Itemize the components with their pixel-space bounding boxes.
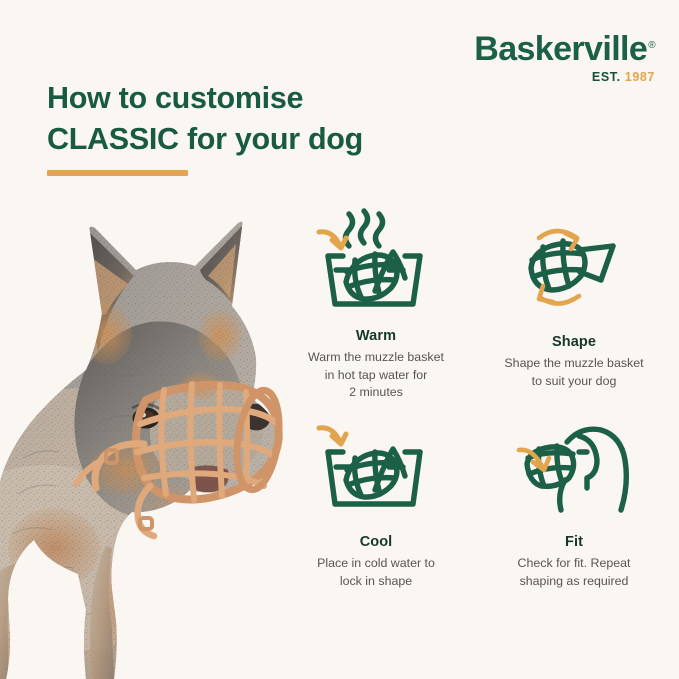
page-title-line-1: How to customise xyxy=(47,81,303,115)
step-title: Cool xyxy=(282,534,470,550)
step-title: Fit xyxy=(480,534,668,550)
infographic-page: Baskerville® EST. 1987 How to customiseC… xyxy=(0,0,679,679)
step-description: Shape the muzzle basket to suit your dog xyxy=(480,355,668,390)
brand-name-text: Baskerville xyxy=(474,30,647,68)
step-title: Warm xyxy=(282,328,470,344)
step-desc-line: in hot tap water for xyxy=(325,368,428,382)
steps-grid: Warm Warm the muzzle basket in hot tap w… xyxy=(282,208,679,608)
est-label: EST. xyxy=(592,70,621,84)
step-description: Warm the muzzle basket in hot tap water … xyxy=(282,349,470,402)
step-title: Shape xyxy=(480,334,668,350)
step-warm: Warm Warm the muzzle basket in hot tap w… xyxy=(282,208,470,402)
step-desc-line: shaping as required xyxy=(520,574,629,588)
registered-trademark-icon: ® xyxy=(648,40,655,51)
brand-established: EST. 1987 xyxy=(470,70,655,84)
step-description: Check for fit. Repeat shaping as require… xyxy=(480,555,668,590)
basin-with-muzzle-icon xyxy=(282,414,470,522)
title-divider xyxy=(47,170,188,176)
brand-name: Baskerville® xyxy=(474,32,655,66)
step-desc-line: to suit your dog xyxy=(532,374,617,388)
step-desc-line: Check for fit. Repeat xyxy=(518,556,631,570)
step-fit: Fit Check for fit. Repeat shaping as req… xyxy=(480,414,668,590)
step-description: Place in cold water to lock in shape xyxy=(282,555,470,590)
step-desc-line: lock in shape xyxy=(340,574,412,588)
step-desc-line: Place in cold water to xyxy=(317,556,435,570)
dog-head-with-muzzle-icon xyxy=(480,414,668,522)
step-desc-line: 2 minutes xyxy=(349,385,403,399)
est-year: 1987 xyxy=(625,70,655,84)
muzzle-shaping-arrows-icon xyxy=(480,214,668,322)
step-cool: Cool Place in cold water to lock in shap… xyxy=(282,414,470,590)
step-desc-line: Warm the muzzle basket xyxy=(308,350,444,364)
dog-photo xyxy=(0,218,294,679)
step-desc-line: Shape the muzzle basket xyxy=(504,356,643,370)
brand-logo: Baskerville® EST. 1987 xyxy=(470,32,655,84)
step-shape: Shape Shape the muzzle basket to suit yo… xyxy=(480,214,668,390)
basin-with-muzzle-steam-icon xyxy=(282,208,470,316)
page-title-line-2: CLASSIC for your dog xyxy=(47,122,363,156)
page-title: How to customiseCLASSIC for your dog xyxy=(47,78,417,159)
